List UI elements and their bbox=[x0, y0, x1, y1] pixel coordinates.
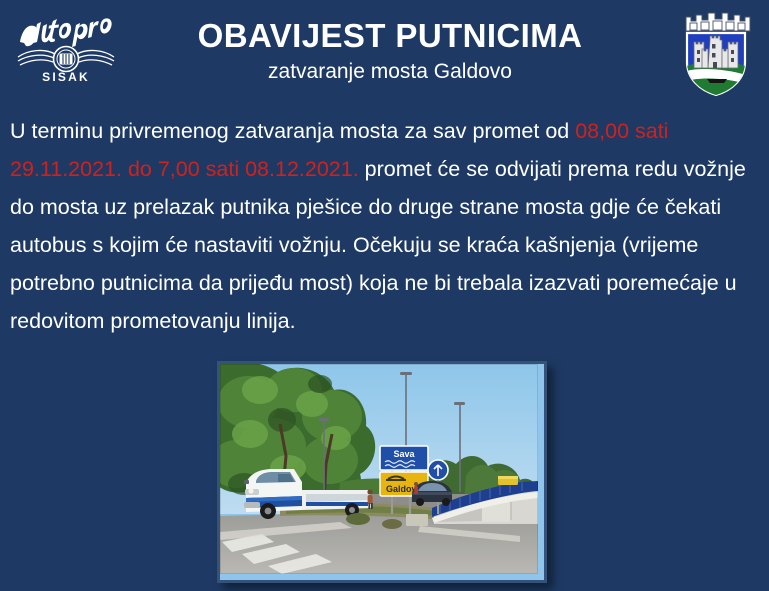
announcement-body: U terminu privremenog zatvaranja mosta z… bbox=[10, 112, 762, 340]
announcement-paragraph: U terminu privremenog zatvaranja mosta z… bbox=[10, 112, 762, 340]
sisak-coat-of-arms-icon: Grb grada Siska bbox=[677, 6, 755, 98]
title-block: OBAVIJEST PUTNICIMA zatvaranje mosta Gal… bbox=[130, 16, 650, 86]
sign-sava-label: Sava bbox=[393, 449, 415, 459]
announcement-suffix: promet će se odvijati prema redu vožnje … bbox=[10, 157, 746, 333]
obavijest-poster: SISAK Auto promet SISAK OBAVIJEST PUTNIC… bbox=[0, 0, 769, 591]
page-title: OBAVIJEST PUTNICIMA bbox=[130, 16, 650, 56]
pedestrian-distant bbox=[414, 482, 418, 494]
galdovo-bridge-photo: Sava Galdovo bbox=[217, 361, 547, 583]
announcement-prefix: U terminu privremenog zatvaranja mosta z… bbox=[10, 119, 575, 143]
auto-promet-sisak-logo: SISAK Auto promet SISAK bbox=[10, 12, 122, 84]
page-subtitle: zatvaranje mosta Galdovo bbox=[130, 58, 650, 86]
poster-header: SISAK Auto promet SISAK OBAVIJEST PUTNIC… bbox=[0, 0, 769, 108]
logo-city-text: SISAK bbox=[42, 70, 90, 84]
